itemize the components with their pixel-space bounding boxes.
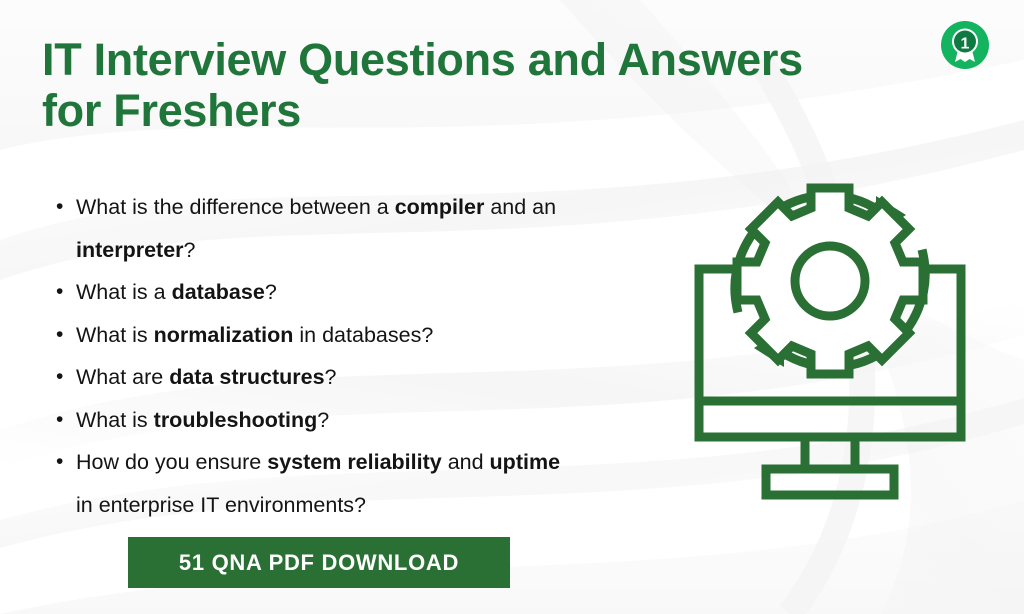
question-text: ? — [317, 408, 329, 432]
rank-one-badge-icon: 1 — [940, 20, 990, 70]
page-title-line-1: IT Interview Questions and Answers — [42, 34, 892, 85]
badge-number: 1 — [961, 36, 970, 53]
question-keyword: compiler — [395, 195, 485, 219]
page-title: IT Interview Questions and Answers for F… — [42, 34, 892, 136]
question-list-item: What is the difference between a compile… — [56, 186, 676, 271]
question-text: What is — [76, 408, 154, 432]
question-text: What is a — [76, 280, 172, 304]
question-list-item: What is normalization in databases? — [56, 314, 676, 357]
question-keyword: system reliability — [267, 450, 441, 474]
question-text: in databases? — [293, 323, 433, 347]
question-list: What is the difference between a compile… — [56, 186, 676, 526]
question-list-item: What is a database? — [56, 271, 676, 314]
download-pdf-button[interactable]: 51 QNA PDF DOWNLOAD — [128, 537, 510, 588]
monitor-gear-refresh-icon — [680, 168, 980, 500]
question-keyword: normalization — [154, 323, 294, 347]
question-list-item: What is troubleshooting? — [56, 399, 676, 442]
question-text: in enterprise IT environments? — [76, 493, 366, 517]
question-list-item: How do you ensure system reliability and… — [56, 441, 676, 526]
question-list-item: What are data structures? — [56, 356, 676, 399]
question-text: and an — [484, 195, 556, 219]
question-text: What are — [76, 365, 169, 389]
question-text: How do you ensure — [76, 450, 267, 474]
question-keyword: uptime — [490, 450, 560, 474]
question-text: ? — [265, 280, 277, 304]
question-keyword: database — [172, 280, 265, 304]
question-text: What is the difference between a — [76, 195, 395, 219]
question-text: What is — [76, 323, 154, 347]
banner-root: IT Interview Questions and Answers for F… — [0, 0, 1024, 614]
question-text: ? — [184, 238, 196, 262]
question-keyword: data structures — [169, 365, 324, 389]
page-title-line-2: for Freshers — [42, 85, 892, 136]
question-text: and — [442, 450, 490, 474]
question-keyword: troubleshooting — [154, 408, 318, 432]
question-text: ? — [325, 365, 337, 389]
question-keyword: interpreter — [76, 238, 184, 262]
gear-icon — [737, 188, 923, 374]
